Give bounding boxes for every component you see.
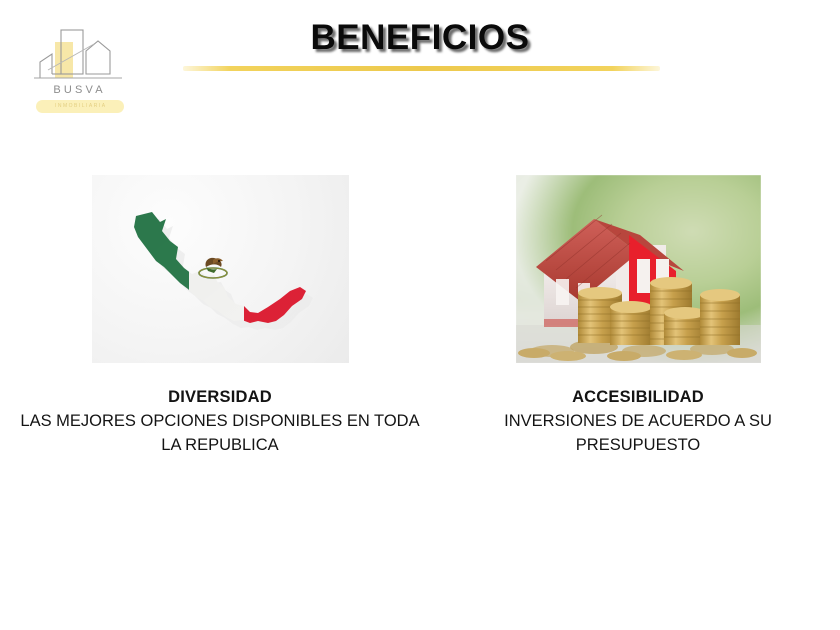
title-underline-rule: [183, 66, 660, 71]
benefit-title: ACCESIBILIDAD: [454, 385, 822, 409]
benefit-caption: ACCESIBILIDAD INVERSIONES DE ACUERDO A S…: [454, 385, 822, 457]
slide-title: BENEFICIOS: [0, 18, 840, 58]
benefit-item-accesibilidad: ACCESIBILIDAD INVERSIONES DE ACUERDO A S…: [454, 175, 822, 457]
mexico-flag-map-graphic: [92, 175, 349, 363]
coin-stack-2: [610, 301, 652, 345]
logo-wordmark: BUSVA: [28, 84, 128, 96]
benefit-caption: DIVERSIDAD LAS MEJORES OPCIONES DISPONIB…: [18, 385, 422, 457]
benefit-body: INVERSIONES DE ACUERDO A SU PRESUPUESTO: [454, 409, 822, 457]
mexico-map-image: [92, 175, 349, 363]
logo-tagline: INMOBILIARIA: [36, 100, 124, 113]
logo-tagline-pill: INMOBILIARIA: [36, 100, 124, 113]
benefit-title: DIVERSIDAD: [18, 385, 422, 409]
coin-stack-5: [700, 289, 740, 345]
benefit-body: LAS MEJORES OPCIONES DISPONIBLES EN TODA…: [18, 409, 422, 457]
house-coins-graphic: [516, 175, 761, 363]
coin-stack-4: [664, 307, 706, 345]
house-and-coins-image: [516, 175, 761, 363]
benefit-item-diversidad: DIVERSIDAD LAS MEJORES OPCIONES DISPONIB…: [18, 175, 422, 457]
